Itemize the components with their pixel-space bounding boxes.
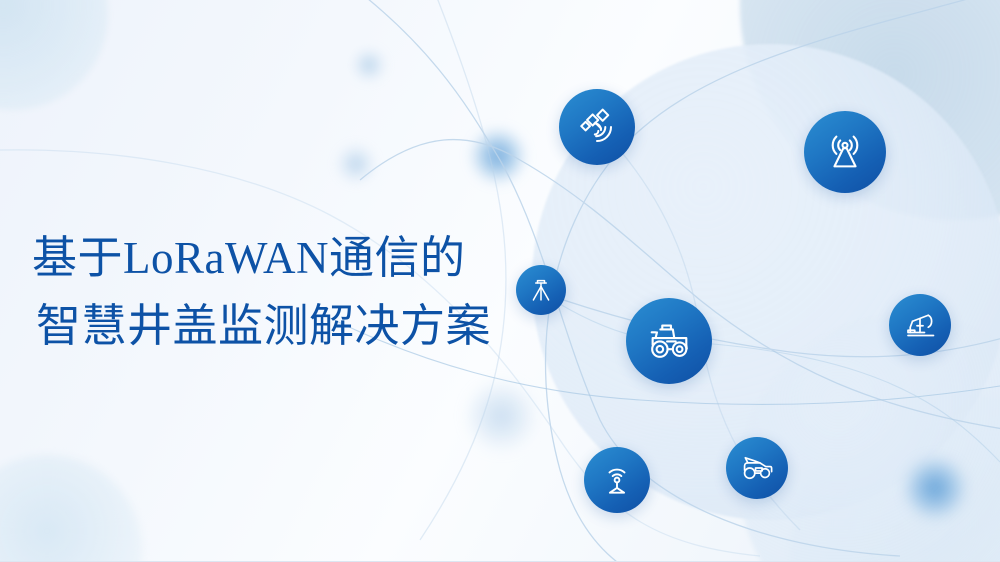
glow-dot-4 [352,48,386,82]
survey-tripod-icon [527,276,555,304]
satellite-icon [576,106,618,148]
glow-dot-2 [903,456,967,520]
tractor-icon [644,316,694,366]
oil-pumpjack-icon [902,307,938,343]
harvester-icon [738,449,776,487]
title-line-2: 智慧井盖监测解决方案 [32,292,491,360]
background-blob-bottom-right [790,392,1000,562]
harvester-node[interactable] [726,437,788,499]
sensor-beacon-node[interactable] [584,447,650,513]
tractor-node[interactable] [626,298,712,384]
radio-tower-icon [822,129,868,175]
survey-tripod-node[interactable] [516,265,566,315]
glow-dot-1 [470,128,526,184]
title-line-1: 基于LoRaWAN通信的 [32,224,491,292]
radio-tower-node[interactable] [804,111,886,193]
background-sphere-small [740,316,1000,562]
glow-dot-3 [466,381,536,451]
sensor-beacon-icon [598,461,636,499]
background-blob-top-right [740,0,1000,220]
oil-pumpjack-node[interactable] [889,294,951,356]
page-title: 基于LoRaWAN通信的 智慧井盖监测解决方案 [32,224,491,360]
glow-dot-5 [336,144,376,184]
satellite-node[interactable] [559,89,635,165]
background-blob-bottom-left [0,455,142,562]
presentation-slide: 基于LoRaWAN通信的 智慧井盖监测解决方案 [0,0,1000,562]
background-blob-top-left [0,0,108,110]
